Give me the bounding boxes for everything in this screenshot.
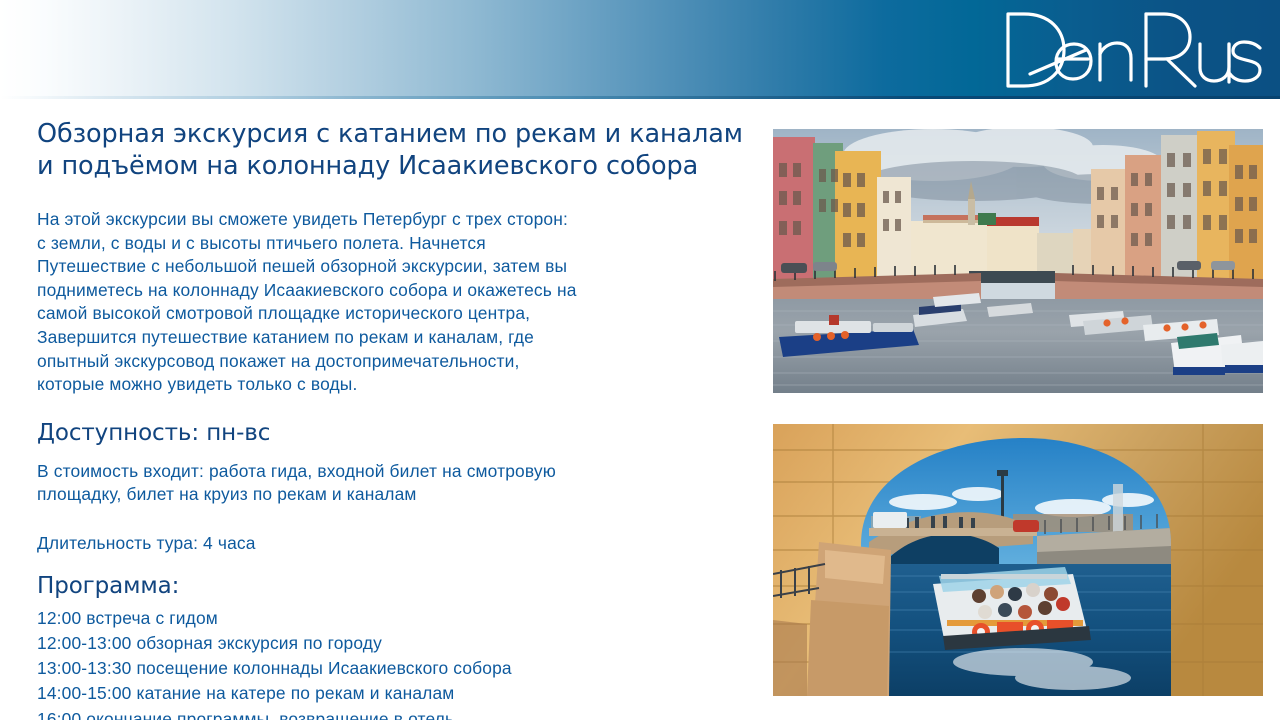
list-item: 12:00 встреча с гидом: [37, 606, 752, 631]
included-text: В стоимость входит: работа гида, входной…: [37, 460, 752, 507]
slide: Обзорная экскурсия с катанием по рекам и…: [0, 0, 1280, 720]
duration-text: Длительность тура: 4 часа: [37, 532, 752, 556]
tour-description-panel: Обзорная экскурсия с катанием по рекам и…: [37, 118, 752, 720]
list-item: 16:00 окончание программы, возвращение в…: [37, 707, 752, 720]
boat-under-bridge-photo: [773, 424, 1263, 696]
page-title: Обзорная экскурсия с катанием по рекам и…: [37, 118, 752, 182]
program-heading: Программа:: [37, 572, 752, 600]
list-item: 14:00-15:00 катание на катере по рекам и…: [37, 681, 752, 706]
list-item: 12:00-13:00 обзорная экскурсия по городу: [37, 631, 752, 656]
tour-intro-paragraph: На этой экскурсии вы сможете увидеть Пет…: [37, 208, 752, 397]
list-item: 13:00-13:30 посещение колоннады Исаакиев…: [37, 656, 752, 681]
header-banner: [0, 0, 1280, 99]
header-divider: [0, 96, 1280, 99]
availability-heading: Доступность: пн-вс: [37, 419, 752, 447]
program-schedule-list: 12:00 встреча с гидом 12:00-13:00 обзорн…: [37, 606, 752, 720]
denrus-wordmark-logo[interactable]: [994, 6, 1264, 92]
saint-petersburg-canal-photo: [773, 129, 1263, 393]
